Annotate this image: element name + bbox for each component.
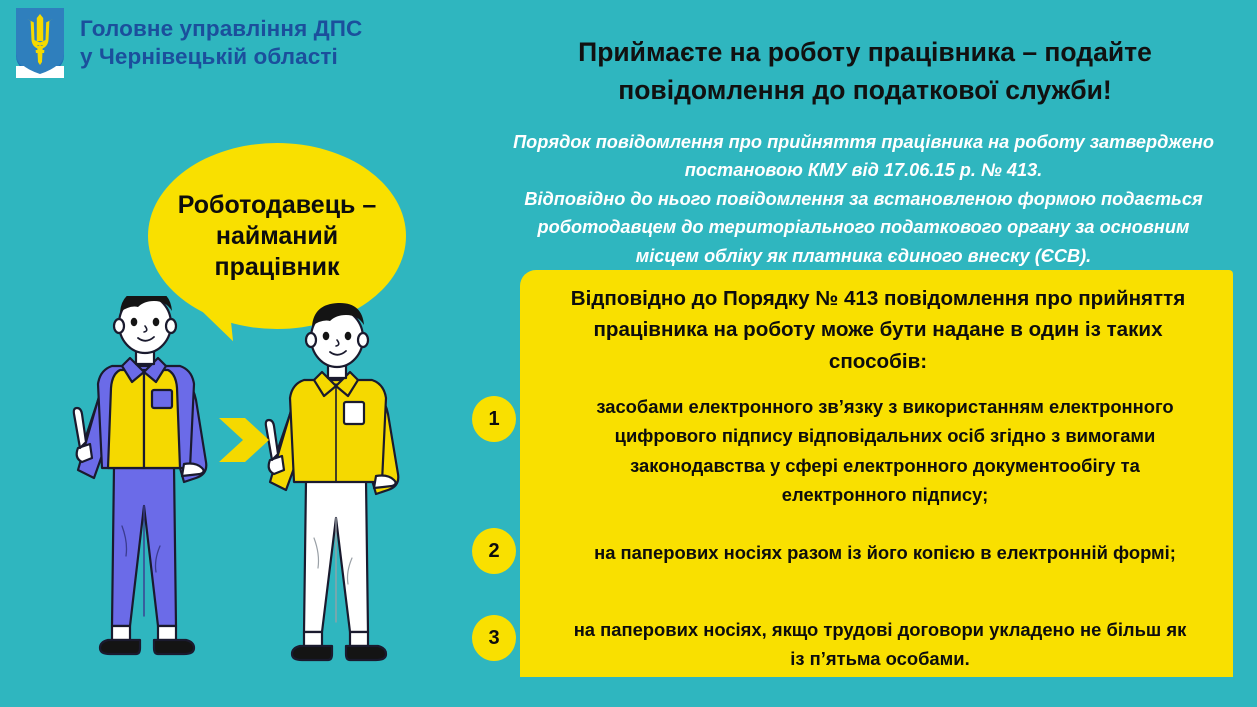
employee-figure xyxy=(266,303,398,660)
item-number-badge: 3 xyxy=(472,615,516,661)
ukraine-coat-of-arms-icon xyxy=(14,6,66,80)
characters-illustration xyxy=(52,296,472,696)
organization-name: Головне управління ДПС у Чернівецькій об… xyxy=(80,15,362,72)
item-number-badge: 1 xyxy=(472,396,516,442)
item-text: засобами електронного зв’язку з використ… xyxy=(540,392,1230,510)
intro-paragraphs: Порядок повідомлення про прийняття праці… xyxy=(470,128,1257,270)
item-text: на паперових носіях, якщо трудові догово… xyxy=(530,615,1230,674)
organization-header: Головне управління ДПС у Чернівецькій об… xyxy=(14,6,362,80)
intro-paragraph-1: Порядок повідомлення про прийняття праці… xyxy=(470,128,1257,185)
employer-figure xyxy=(74,296,206,654)
intro-paragraph-2: Відповідно до нього повідомлення за вста… xyxy=(470,185,1257,270)
chevron-right-icon xyxy=(215,412,273,468)
main-heading: Приймаєте на роботу працівника – подайте… xyxy=(480,34,1250,109)
item-number-badge: 2 xyxy=(472,528,516,574)
infographic-page: Головне управління ДПС у Чернівецькій об… xyxy=(0,0,1257,707)
panel-heading: Відповідно до Порядку № 413 повідомлення… xyxy=(528,283,1228,377)
item-text: на паперових носіях разом із його копією… xyxy=(540,538,1230,567)
